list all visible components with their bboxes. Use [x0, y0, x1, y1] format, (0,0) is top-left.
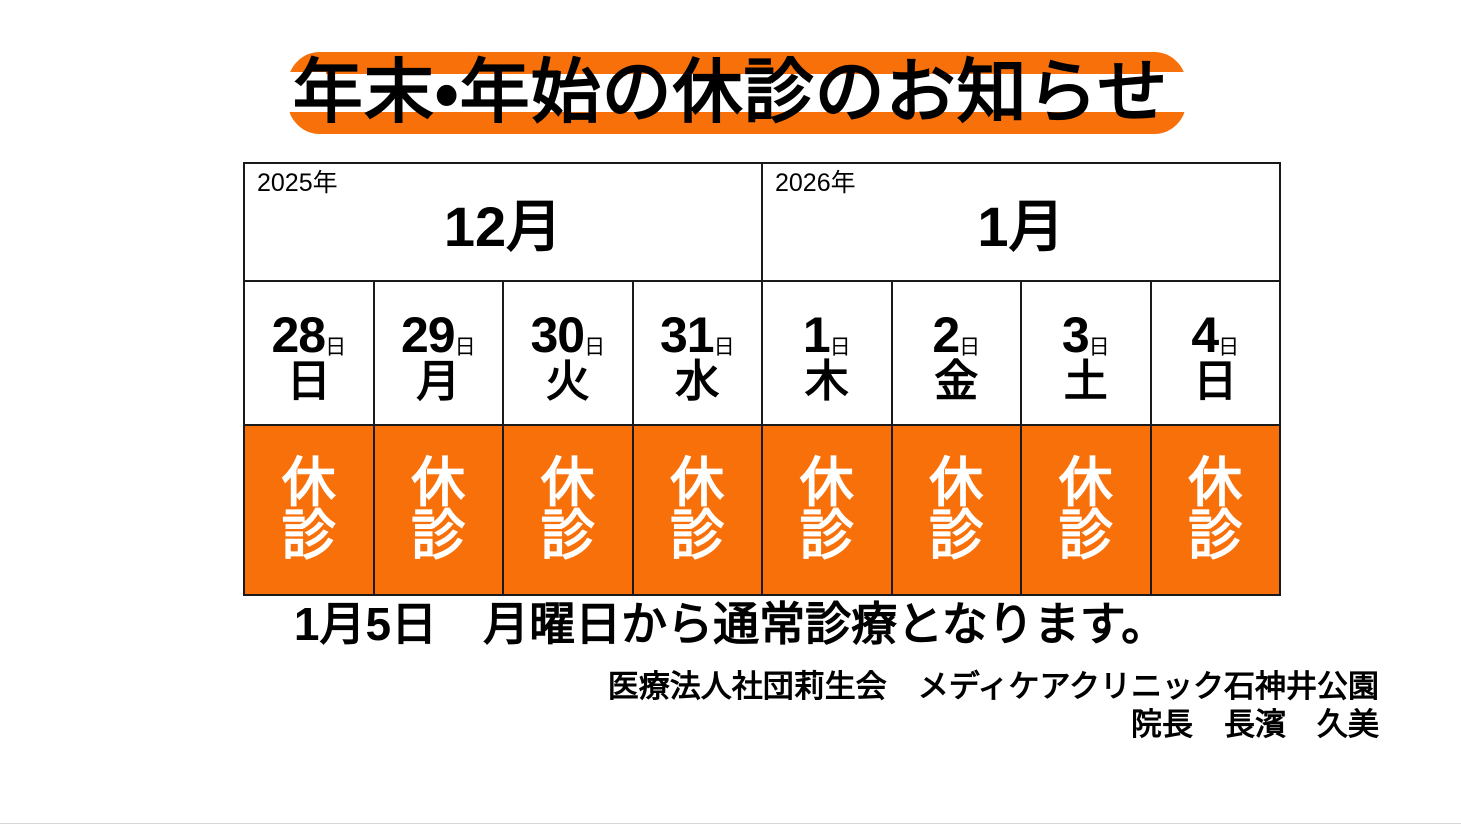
date-number-dec-31: 31日	[634, 309, 762, 362]
status-badge-closed: 休 診	[541, 457, 595, 563]
closed-char-bottom: 診	[1188, 510, 1242, 563]
date-cell-dec-30: 30日 火	[503, 281, 633, 425]
date-cell-dec-31: 31日 水	[633, 281, 763, 425]
date-cell-dec-29: 29日 月	[374, 281, 504, 425]
poster-title: 年末・年始の休診のお知らせ	[0, 42, 1461, 142]
status-cell-dec-31: 休 診	[633, 425, 763, 595]
date-number-dec-29: 29日	[375, 309, 503, 362]
holiday-calendar-table: 2025年 12月 2026年 1月 28日 日 29日 月	[243, 162, 1281, 596]
weekday-dec-28: 日	[245, 359, 373, 405]
status-cell-dec-29: 休 診	[374, 425, 504, 595]
holiday-notice-poster: 年末・年始の休診のお知らせ 2025年 12月 2026年 1月 28日 日	[0, 0, 1461, 823]
weekday-jan-3: 土	[1022, 359, 1150, 405]
month-header-cell-december: 2025年 12月	[244, 163, 762, 281]
closed-char-top: 休	[1059, 457, 1113, 510]
table-row-month-header: 2025年 12月 2026年 1月	[244, 163, 1280, 281]
date-cell-dec-28: 28日 日	[244, 281, 374, 425]
date-cell-jan-1: 1日 木	[762, 281, 892, 425]
closed-char-bottom: 診	[541, 510, 595, 563]
month-label-january: 1月	[763, 196, 1279, 258]
table-row-status: 休 診 休 診 休 診	[244, 425, 1280, 595]
status-badge-closed: 休 診	[670, 457, 724, 563]
date-number-jan-1: 1日	[763, 309, 891, 362]
closed-char-bottom: 診	[929, 510, 983, 563]
table-row-dates: 28日 日 29日 月 30日 火 31日 水 1日 木	[244, 281, 1280, 425]
status-cell-dec-28: 休 診	[244, 425, 374, 595]
date-unit-icon: 日	[830, 336, 851, 359]
status-badge-closed: 休 診	[282, 457, 336, 563]
weekday-dec-31: 水	[634, 359, 762, 405]
clinic-director-name: 院長 長濱 久美	[1131, 706, 1379, 743]
weekday-jan-1: 木	[763, 359, 891, 405]
date-unit-icon: 日	[959, 336, 980, 359]
status-cell-jan-4: 休 診	[1151, 425, 1281, 595]
year-label-2025: 2025年	[257, 170, 338, 198]
status-badge-closed: 休 診	[929, 457, 983, 563]
weekday-dec-29: 月	[375, 359, 503, 405]
date-cell-jan-4: 4日 日	[1151, 281, 1281, 425]
date-cell-jan-2: 2日 金	[892, 281, 1022, 425]
date-number-jan-3: 3日	[1022, 309, 1150, 362]
year-label-2026: 2026年	[775, 170, 856, 198]
status-cell-jan-3: 休 診	[1021, 425, 1151, 595]
status-cell-jan-1: 休 診	[762, 425, 892, 595]
weekday-jan-4: 日	[1152, 359, 1280, 405]
status-cell-jan-2: 休 診	[892, 425, 1022, 595]
clinic-organization-name: 医療法人社団莉生会 メディケアクリニック石神井公園	[608, 668, 1379, 705]
status-badge-closed: 休 診	[800, 457, 854, 563]
closed-char-top: 休	[282, 457, 336, 510]
date-unit-icon: 日	[1089, 336, 1110, 359]
closed-char-bottom: 診	[411, 510, 465, 563]
date-cell-jan-3: 3日 土	[1021, 281, 1151, 425]
status-badge-closed: 休 診	[1059, 457, 1113, 563]
date-number-jan-2: 2日	[893, 309, 1021, 362]
weekday-jan-2: 金	[893, 359, 1021, 405]
status-cell-dec-30: 休 診	[503, 425, 633, 595]
date-number-dec-30: 30日	[504, 309, 632, 362]
date-unit-icon: 日	[714, 336, 735, 359]
closed-char-top: 休	[929, 457, 983, 510]
status-badge-closed: 休 診	[411, 457, 465, 563]
closed-char-top: 休	[800, 457, 854, 510]
closed-char-top: 休	[411, 457, 465, 510]
status-badge-closed: 休 診	[1188, 457, 1242, 563]
closed-char-bottom: 診	[1059, 510, 1113, 563]
date-unit-icon: 日	[325, 336, 346, 359]
date-number-jan-4: 4日	[1152, 309, 1280, 362]
closed-char-top: 休	[1188, 457, 1242, 510]
title-banner: 年末・年始の休診のお知らせ	[0, 42, 1461, 142]
date-unit-icon: 日	[455, 336, 476, 359]
month-header-cell-january: 2026年 1月	[762, 163, 1280, 281]
date-number-dec-28: 28日	[245, 309, 373, 362]
closed-char-bottom: 診	[800, 510, 854, 563]
closed-char-bottom: 診	[670, 510, 724, 563]
closed-char-top: 休	[670, 457, 724, 510]
date-unit-icon: 日	[584, 336, 605, 359]
closed-char-bottom: 診	[282, 510, 336, 563]
month-label-december: 12月	[245, 196, 761, 258]
weekday-dec-30: 火	[504, 359, 632, 405]
resume-notice: 1月5日 月曜日から通常診療となります。	[0, 598, 1461, 651]
date-unit-icon: 日	[1218, 336, 1239, 359]
closed-char-top: 休	[541, 457, 595, 510]
